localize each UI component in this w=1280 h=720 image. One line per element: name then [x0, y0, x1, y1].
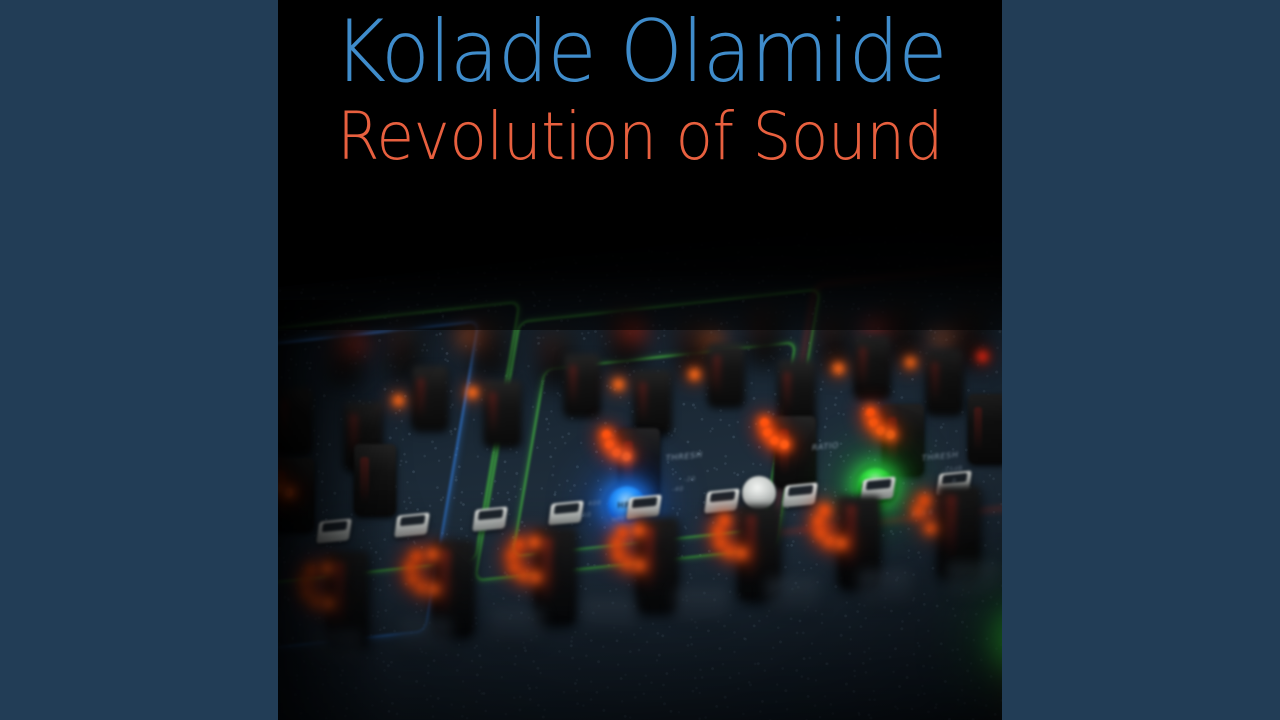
fader-led-arc — [814, 506, 860, 552]
pad-button[interactable] — [674, 588, 728, 624]
silk-scale-label: -20 — [683, 475, 696, 483]
pad-button[interactable] — [582, 598, 636, 634]
pad-button[interactable] — [398, 618, 452, 654]
screenshot-root: HPF COMP EQ — [0, 0, 1280, 720]
pad-button[interactable] — [946, 562, 1000, 598]
pad-button[interactable] — [766, 578, 820, 614]
silk-scale-label: 0 — [951, 478, 957, 485]
silk-scale-label: -15dB — [941, 465, 963, 474]
letterbox-bar-right — [1002, 0, 1280, 720]
pad-button[interactable] — [490, 608, 544, 644]
silk-label: THRESH — [665, 450, 703, 463]
fader-led-arc — [714, 516, 760, 562]
pad-grid — [278, 560, 1002, 720]
mixing-console-photo: HPF COMP EQ — [278, 0, 1002, 720]
silk-label: THRESH — [921, 450, 959, 463]
fader-led-arc — [914, 496, 960, 542]
letterbox-bar-left — [0, 0, 278, 720]
pad-button[interactable] — [858, 570, 912, 606]
album-artwork: HPF COMP EQ — [278, 0, 1002, 720]
silk-label: RATIO — [811, 441, 839, 453]
pad-button[interactable] — [308, 630, 362, 666]
